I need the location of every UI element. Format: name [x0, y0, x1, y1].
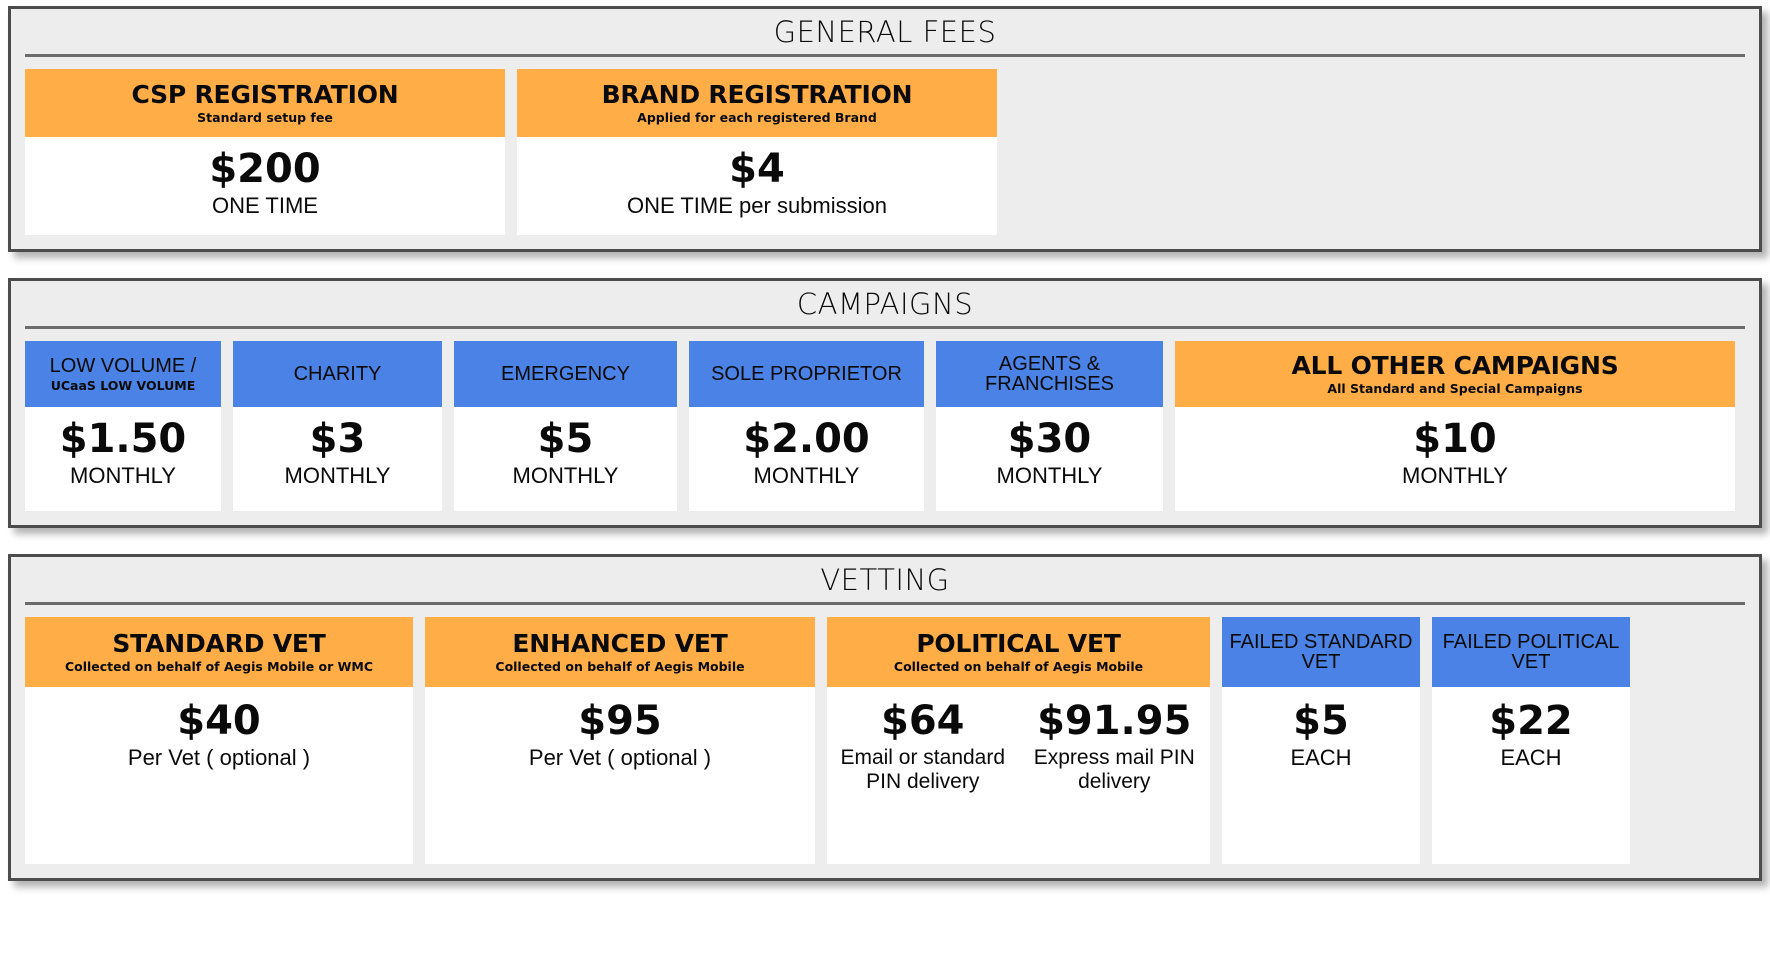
- card-body-agents-franchises: $30MONTHLY: [936, 407, 1163, 511]
- card-subtitle-enhanced-vet: Collected on behalf of Aegis Mobile: [495, 660, 744, 674]
- card-title-low-volume: LOW VOLUME /: [50, 356, 197, 377]
- card-brand-registration[interactable]: BRAND REGISTRATIONApplied for each regis…: [517, 69, 997, 235]
- price-note-failed-standard-vet: EACH: [1222, 746, 1420, 771]
- card-header-sole-proprietor: SOLE PROPRIETOR: [689, 341, 924, 407]
- card-body-enhanced-vet: $95Per Vet ( optional ): [425, 687, 815, 864]
- card-header-csp-registration: CSP REGISTRATIONStandard setup fee: [25, 69, 505, 137]
- price-note-charity: MONTHLY: [233, 464, 442, 489]
- card-body-charity: $3MONTHLY: [233, 407, 442, 511]
- price-low-volume: $1.50: [25, 419, 221, 459]
- price-note-brand-registration: ONE TIME per submission: [517, 194, 997, 219]
- price-all-other-campaigns: $10: [1175, 419, 1735, 459]
- card-title-failed-standard-vet: FAILED STANDARD VET: [1228, 632, 1414, 674]
- price-brand-registration: $4: [517, 149, 997, 189]
- card-row-general-fees: CSP REGISTRATIONStandard setup fee$200ON…: [11, 57, 1759, 249]
- card-sole-proprietor[interactable]: SOLE PROPRIETOR$2.00MONTHLY: [689, 341, 924, 511]
- card-body-failed-standard-vet: $5EACH: [1222, 687, 1420, 864]
- card-body-sole-proprietor: $2.00MONTHLY: [689, 407, 924, 511]
- price-note-standard-vet: Per Vet ( optional ): [25, 746, 413, 771]
- card-body-low-volume: $1.50MONTHLY: [25, 407, 221, 511]
- card-subtitle-brand-registration: Applied for each registered Brand: [637, 111, 877, 125]
- card-option-political-vet-email: $64Email or standard PIN delivery: [827, 701, 1019, 864]
- card-title-emergency: EMERGENCY: [501, 364, 630, 385]
- card-all-other-campaigns[interactable]: ALL OTHER CAMPAIGNSAll Standard and Spec…: [1175, 341, 1735, 511]
- card-political-vet[interactable]: POLITICAL VETCollected on behalf of Aegi…: [827, 617, 1210, 864]
- price-csp-registration: $200: [25, 149, 505, 189]
- price-note-failed-political-vet: EACH: [1432, 746, 1630, 771]
- panel-title-general-fees: GENERAL FEES: [11, 9, 1759, 51]
- card-body-political-vet: $64Email or standard PIN delivery$91.95E…: [827, 687, 1210, 864]
- panel-title-campaigns: CAMPAIGNS: [11, 281, 1759, 323]
- card-title-charity: CHARITY: [294, 364, 382, 385]
- card-option-political-vet-express: $91.95Express mail PIN delivery: [1019, 701, 1211, 864]
- price-agents-franchises: $30: [936, 419, 1163, 459]
- card-title-sole-proprietor: SOLE PROPRIETOR: [711, 364, 902, 385]
- price-political-vet-express: $91.95: [1025, 701, 1205, 741]
- price-failed-political-vet: $22: [1432, 701, 1630, 741]
- card-title-brand-registration: BRAND REGISTRATION: [602, 82, 913, 108]
- card-header-enhanced-vet: ENHANCED VETCollected on behalf of Aegis…: [425, 617, 815, 687]
- card-body-emergency: $5MONTHLY: [454, 407, 677, 511]
- card-failed-standard-vet[interactable]: FAILED STANDARD VET$5EACH: [1222, 617, 1420, 864]
- price-note-csp-registration: ONE TIME: [25, 194, 505, 219]
- price-political-vet-email: $64: [833, 701, 1013, 741]
- price-standard-vet: $40: [25, 701, 413, 741]
- price-sole-proprietor: $2.00: [689, 419, 924, 459]
- card-body-brand-registration: $4ONE TIME per submission: [517, 137, 997, 235]
- card-body-csp-registration: $200ONE TIME: [25, 137, 505, 235]
- price-note-agents-franchises: MONTHLY: [936, 464, 1163, 489]
- price-note-sole-proprietor: MONTHLY: [689, 464, 924, 489]
- card-low-volume[interactable]: LOW VOLUME /UCaaS LOW VOLUME$1.50MONTHLY: [25, 341, 221, 511]
- card-title-csp-registration: CSP REGISTRATION: [131, 82, 398, 108]
- card-csp-registration[interactable]: CSP REGISTRATIONStandard setup fee$200ON…: [25, 69, 505, 235]
- price-note-enhanced-vet: Per Vet ( optional ): [425, 746, 815, 771]
- price-note-all-other-campaigns: MONTHLY: [1175, 464, 1735, 489]
- card-body-all-other-campaigns: $10MONTHLY: [1175, 407, 1735, 511]
- card-title-all-other-campaigns: ALL OTHER CAMPAIGNS: [1291, 353, 1618, 379]
- price-note-emergency: MONTHLY: [454, 464, 677, 489]
- card-header-standard-vet: STANDARD VETCollected on behalf of Aegis…: [25, 617, 413, 687]
- card-row-vetting: STANDARD VETCollected on behalf of Aegis…: [11, 605, 1759, 878]
- price-enhanced-vet: $95: [425, 701, 815, 741]
- card-body-failed-political-vet: $22EACH: [1432, 687, 1630, 864]
- card-subtitle-political-vet: Collected on behalf of Aegis Mobile: [894, 660, 1143, 674]
- card-charity[interactable]: CHARITY$3MONTHLY: [233, 341, 442, 511]
- panel-campaigns: CAMPAIGNS LOW VOLUME /UCaaS LOW VOLUME$1…: [8, 278, 1762, 528]
- card-header-all-other-campaigns: ALL OTHER CAMPAIGNSAll Standard and Spec…: [1175, 341, 1735, 407]
- price-note-political-vet-email: Email or standard PIN delivery: [833, 746, 1013, 793]
- card-agents-franchises[interactable]: AGENTS & FRANCHISES$30MONTHLY: [936, 341, 1163, 511]
- price-failed-standard-vet: $5: [1222, 701, 1420, 741]
- card-header-brand-registration: BRAND REGISTRATIONApplied for each regis…: [517, 69, 997, 137]
- card-title-enhanced-vet: ENHANCED VET: [512, 631, 727, 657]
- card-row-campaigns: LOW VOLUME /UCaaS LOW VOLUME$1.50MONTHLY…: [11, 329, 1759, 525]
- panel-title-vetting: VETTING: [11, 557, 1759, 599]
- pricing-infographic: GENERAL FEES CSP REGISTRATIONStandard se…: [0, 0, 1770, 957]
- panel-vetting: VETTING STANDARD VETCollected on behalf …: [8, 554, 1762, 881]
- card-body-standard-vet: $40Per Vet ( optional ): [25, 687, 413, 864]
- card-header-low-volume: LOW VOLUME /UCaaS LOW VOLUME: [25, 341, 221, 407]
- card-title-failed-political-vet: FAILED POLITICAL VET: [1438, 632, 1624, 674]
- card-enhanced-vet[interactable]: ENHANCED VETCollected on behalf of Aegis…: [425, 617, 815, 864]
- card-header-charity: CHARITY: [233, 341, 442, 407]
- price-note-low-volume: MONTHLY: [25, 464, 221, 489]
- price-note-political-vet-express: Express mail PIN delivery: [1025, 746, 1205, 793]
- card-header-political-vet: POLITICAL VETCollected on behalf of Aegi…: [827, 617, 1210, 687]
- card-subtitle-csp-registration: Standard setup fee: [197, 111, 333, 125]
- card-emergency[interactable]: EMERGENCY$5MONTHLY: [454, 341, 677, 511]
- card-header-failed-standard-vet: FAILED STANDARD VET: [1222, 617, 1420, 687]
- card-failed-political-vet[interactable]: FAILED POLITICAL VET$22EACH: [1432, 617, 1630, 864]
- panel-general-fees: GENERAL FEES CSP REGISTRATIONStandard se…: [8, 6, 1762, 252]
- card-subtitle-standard-vet: Collected on behalf of Aegis Mobile or W…: [65, 660, 373, 674]
- price-emergency: $5: [454, 419, 677, 459]
- card-title-political-vet: POLITICAL VET: [916, 631, 1120, 657]
- card-subtitle-all-other-campaigns: All Standard and Special Campaigns: [1327, 382, 1582, 396]
- card-title-agents-franchises: AGENTS & FRANCHISES: [942, 354, 1157, 396]
- card-header-agents-franchises: AGENTS & FRANCHISES: [936, 341, 1163, 407]
- card-subtitle-low-volume: UCaaS LOW VOLUME: [51, 379, 196, 393]
- card-header-emergency: EMERGENCY: [454, 341, 677, 407]
- card-standard-vet[interactable]: STANDARD VETCollected on behalf of Aegis…: [25, 617, 413, 864]
- card-title-standard-vet: STANDARD VET: [112, 631, 325, 657]
- price-charity: $3: [233, 419, 442, 459]
- card-header-failed-political-vet: FAILED POLITICAL VET: [1432, 617, 1630, 687]
